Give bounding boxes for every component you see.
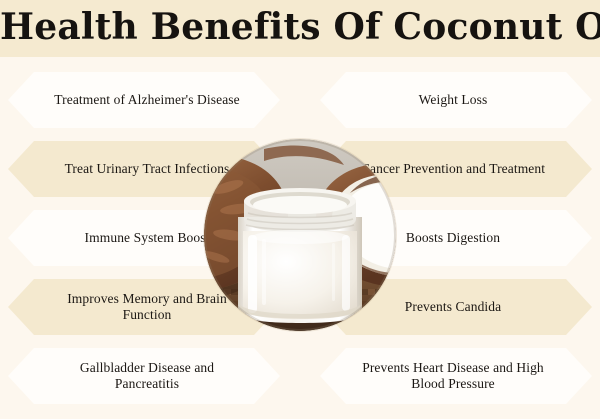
benefit-banner-left-1[interactable]: Treatment of Alzheimer's Disease [8, 72, 280, 128]
benefit-row-1: Treatment of Alzheimer's Disease Weight … [0, 72, 600, 128]
benefit-banner-right-5[interactable]: Prevents Heart Disease and High Blood Pr… [320, 348, 592, 404]
benefit-label: Treat Urinary Tract Infections [48, 161, 246, 177]
benefit-label: Improves Memory and Brain Function [48, 291, 246, 323]
coconut-oil-photo-art [204, 139, 396, 331]
benefit-banner-right-1[interactable]: Weight Loss [320, 72, 592, 128]
benefit-row-5: Gallbladder Disease and Pancreatitis Pre… [0, 348, 600, 404]
benefit-label: Prevents Heart Disease and High Blood Pr… [354, 360, 552, 392]
coconut-oil-jar-photo [204, 139, 396, 331]
benefit-label: Treatment of Alzheimer's Disease [48, 92, 246, 108]
page-title: Health Benefits Of Coconut Oil [0, 0, 600, 57]
benefit-label: Prevents Candida [354, 299, 552, 315]
benefit-label: Cancer Prevention and Treatment [354, 161, 552, 177]
benefit-label: Weight Loss [354, 92, 552, 108]
benefit-banner-left-5[interactable]: Gallbladder Disease and Pancreatitis [8, 348, 280, 404]
benefit-label: Gallbladder Disease and Pancreatitis [48, 360, 246, 392]
infographic-canvas: Health Benefits Of Coconut Oil Treatment… [0, 0, 600, 419]
